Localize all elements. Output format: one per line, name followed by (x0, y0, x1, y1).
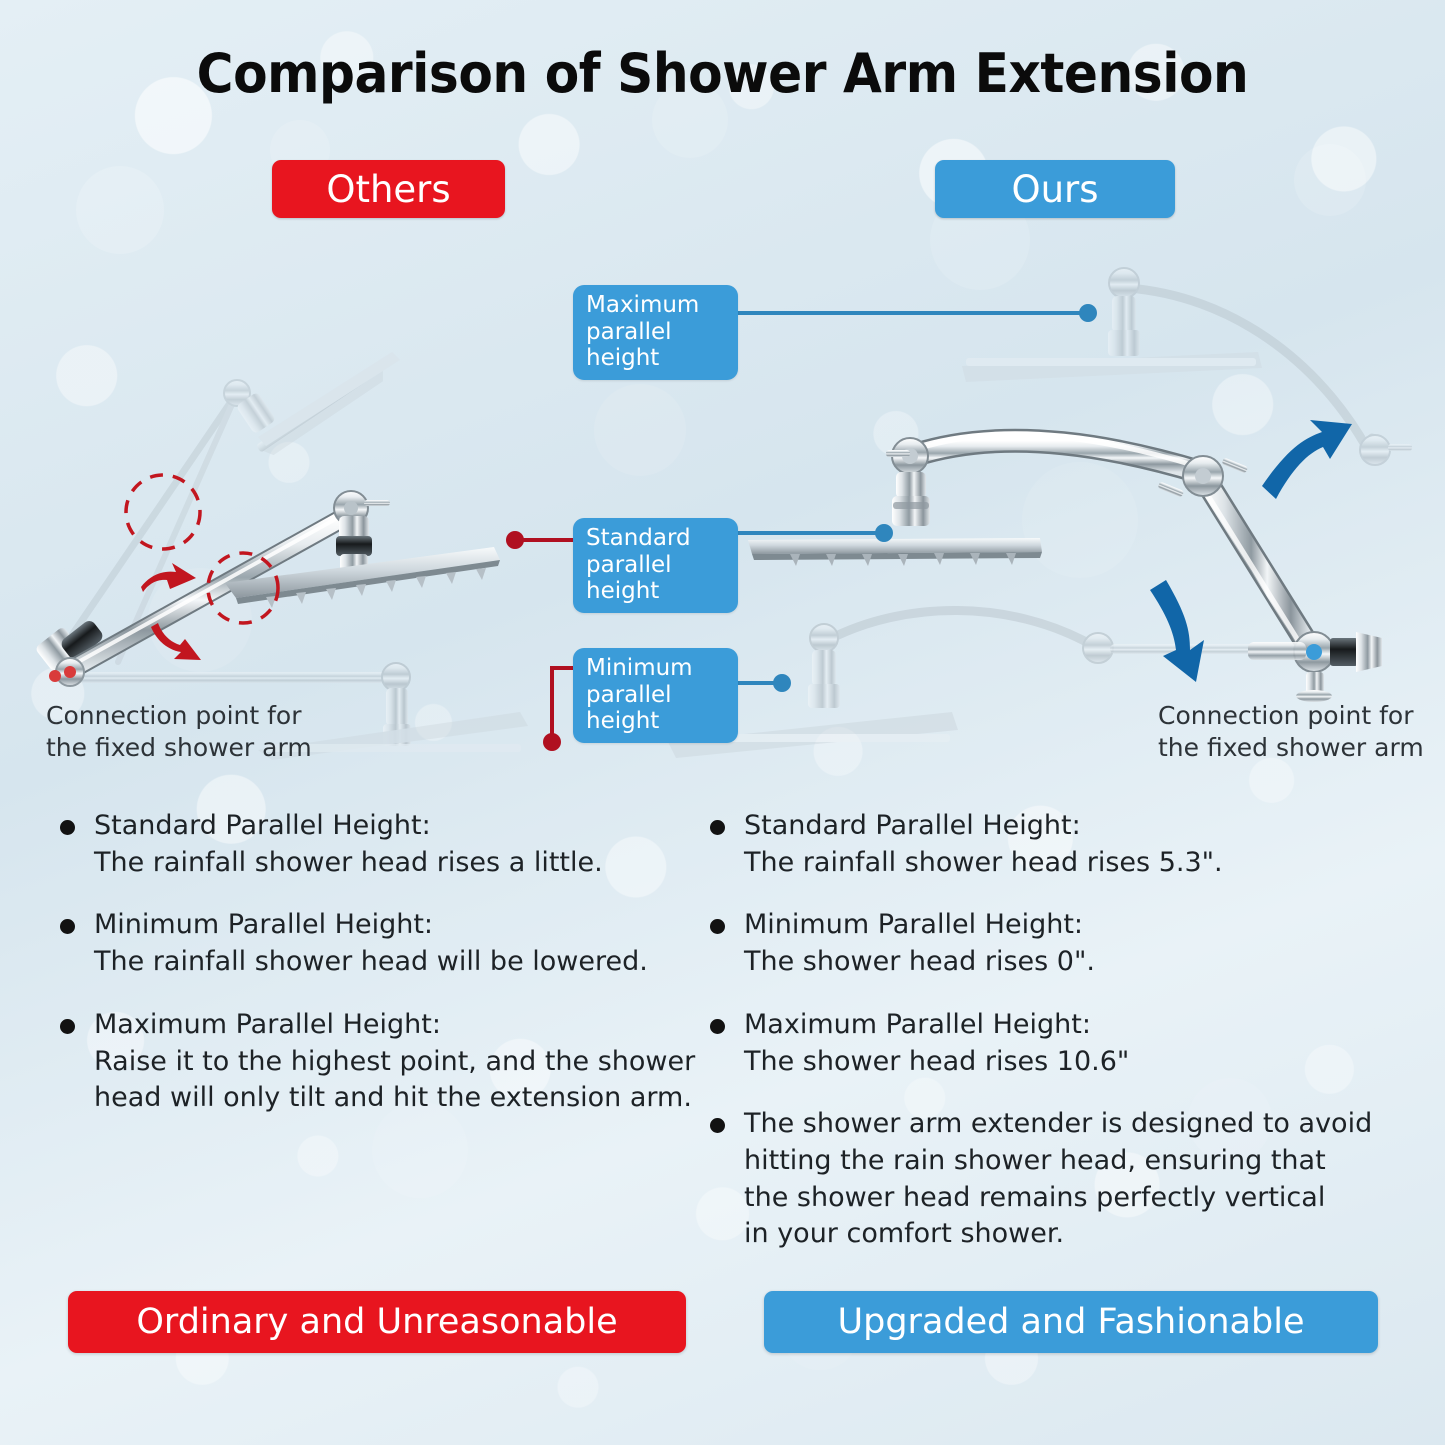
callout-minimum-parallel-height: Minimum parallel height (573, 648, 738, 743)
infographic-page: Comparison of Shower Arm Extension Other… (0, 0, 1445, 1445)
ours-feature-list: Standard Parallel Height: The rainfall s… (710, 808, 1390, 1279)
badge-others: Others (272, 160, 505, 218)
others-shower-arm-illustration (35, 352, 528, 760)
leader-line-minimum-red (543, 668, 575, 751)
list-item: Minimum Parallel Height: The rainfall sh… (60, 907, 700, 980)
list-item: Maximum Parallel Height: The shower head… (710, 1007, 1390, 1080)
list-item-text: Standard Parallel Height: The rainfall s… (744, 808, 1223, 881)
list-item-text: Minimum Parallel Height: The shower head… (744, 907, 1095, 980)
list-item: Minimum Parallel Height: The shower head… (710, 907, 1390, 980)
list-item-text: Minimum Parallel Height: The rainfall sh… (94, 907, 648, 980)
verdict-banner-others: Ordinary and Unreasonable (68, 1291, 686, 1353)
callout-standard-parallel-height: Standard parallel height (573, 518, 738, 613)
bullet-dot-icon (60, 919, 75, 934)
bullet-dot-icon (710, 919, 725, 934)
page-title: Comparison of Shower Arm Extension (51, 42, 1395, 105)
leader-line-standard-red (506, 531, 575, 549)
list-item: Standard Parallel Height: The rainfall s… (60, 808, 700, 881)
bullet-dot-icon (710, 820, 725, 835)
callout-maximum-parallel-height: Maximum parallel height (573, 285, 738, 380)
bullet-dot-icon (710, 1118, 725, 1133)
list-item-text: Standard Parallel Height: The rainfall s… (94, 808, 603, 881)
list-item-text: The shower arm extender is designed to a… (744, 1106, 1372, 1253)
leader-line-maximum (713, 304, 1097, 322)
others-feature-list: Standard Parallel Height: The rainfall s… (60, 808, 700, 1143)
verdict-banner-ours: Upgraded and Fashionable (764, 1291, 1378, 1353)
list-item: The shower arm extender is designed to a… (710, 1106, 1390, 1253)
list-item: Maximum Parallel Height: Raise it to the… (60, 1007, 700, 1117)
caption-connection-point-left: Connection point for the fixed shower ar… (46, 700, 312, 764)
bullet-dot-icon (60, 820, 75, 835)
caption-connection-point-right: Connection point for the fixed shower ar… (1158, 700, 1424, 764)
list-item: Standard Parallel Height: The rainfall s… (710, 808, 1390, 881)
list-item-text: Maximum Parallel Height: Raise it to the… (94, 1007, 695, 1117)
bullet-dot-icon (60, 1019, 75, 1034)
list-item-text: Maximum Parallel Height: The shower head… (744, 1007, 1129, 1080)
bullet-dot-icon (710, 1019, 725, 1034)
badge-ours: Ours (935, 160, 1175, 218)
